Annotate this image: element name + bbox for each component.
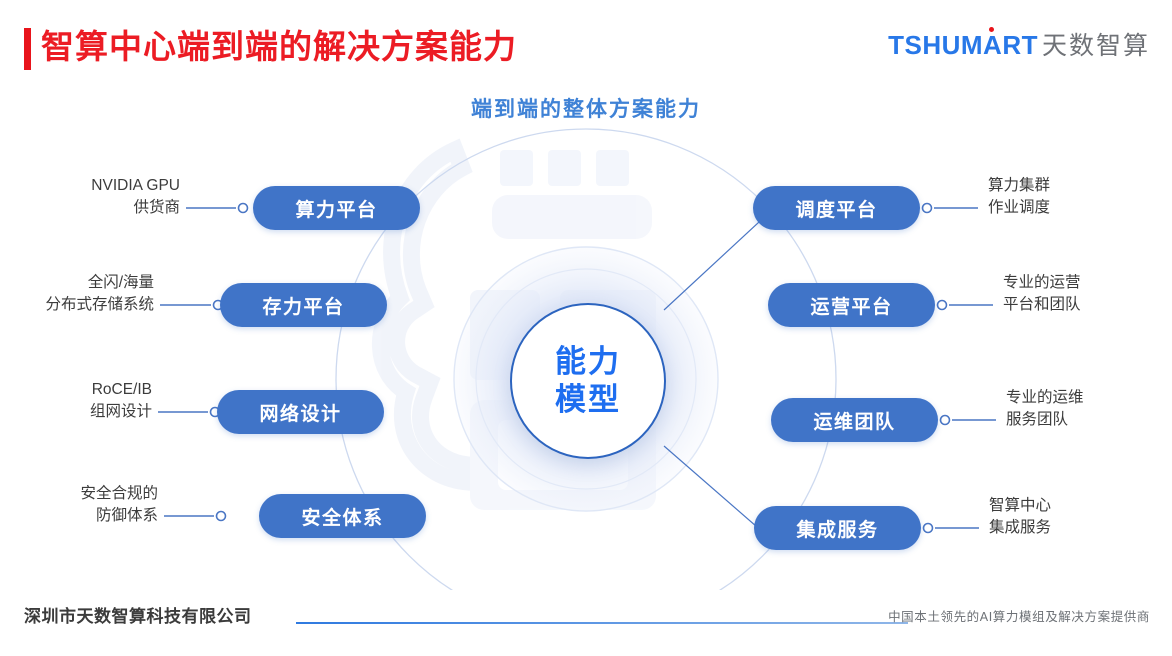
brand-logo-cn: 天数智算 bbox=[1042, 26, 1150, 62]
slide-root: 智算中心端到端的解决方案能力 TSHUMART 天数智算 端到端的整体方案能力 bbox=[0, 0, 1172, 656]
section-subtitle: 端到端的整体方案能力 bbox=[0, 93, 1172, 123]
brand-logo: TSHUMART 天数智算 bbox=[888, 26, 1150, 62]
brand-logo-latin: TSHUMART bbox=[888, 30, 1038, 61]
caption-scheduling-platform: 算力集群 作业调度 bbox=[988, 175, 1158, 219]
caption-ops-team: 专业的运维 服务团队 bbox=[1006, 387, 1172, 431]
title-accent-bar bbox=[24, 28, 31, 70]
caption-line2: 分布式存储系统 bbox=[0, 294, 154, 316]
capability-model-diagram: 能力 模型 算力平台 存力平台 网络设计 安全体系 NVIDIA GPU 供货商… bbox=[0, 120, 1172, 590]
caption-line1: 算力集群 bbox=[988, 175, 1158, 197]
spoke-to-scheduling bbox=[664, 210, 772, 310]
slide-header: 智算中心端到端的解决方案能力 TSHUMART 天数智算 bbox=[0, 0, 1172, 92]
brand-logo-dot-icon bbox=[989, 27, 994, 32]
right-connectors bbox=[923, 204, 997, 533]
pill-operations-platform[interactable]: 运营平台 bbox=[768, 283, 935, 327]
caption-storage-platform: 全闪/海量 分布式存储系统 bbox=[0, 272, 154, 316]
center-node-line1: 能力 bbox=[555, 343, 621, 381]
footer-slogan: 中国本土领先的AI算力模组及解决方案提供商 bbox=[888, 606, 1150, 625]
caption-line2: 防御体系 bbox=[0, 505, 158, 527]
footer-divider bbox=[296, 622, 908, 624]
caption-line1: 全闪/海量 bbox=[0, 272, 154, 294]
left-connectors bbox=[158, 204, 248, 521]
pill-ops-team[interactable]: 运维团队 bbox=[771, 398, 938, 442]
pill-scheduling-platform[interactable]: 调度平台 bbox=[753, 186, 920, 230]
caption-line1: NVIDIA GPU bbox=[20, 175, 180, 197]
center-node-line2: 模型 bbox=[555, 381, 621, 419]
caption-line1: 专业的运营 bbox=[1003, 272, 1172, 294]
caption-network-design: RoCE/IB 组网设计 bbox=[0, 379, 152, 423]
caption-operations-platform: 专业的运营 平台和团队 bbox=[1003, 272, 1172, 316]
center-node-capability-model[interactable]: 能力 模型 bbox=[510, 303, 666, 459]
caption-line2: 平台和团队 bbox=[1003, 294, 1172, 316]
caption-line1: RoCE/IB bbox=[0, 379, 152, 401]
pill-security-system[interactable]: 安全体系 bbox=[259, 494, 426, 538]
pill-integration-services[interactable]: 集成服务 bbox=[754, 506, 921, 550]
brand-logo-latin-text: TSHUMART bbox=[888, 30, 1038, 60]
caption-security-system: 安全合规的 防御体系 bbox=[0, 483, 158, 527]
caption-line1: 智算中心 bbox=[989, 495, 1159, 517]
caption-compute-platform: NVIDIA GPU 供货商 bbox=[20, 175, 180, 219]
pill-compute-platform[interactable]: 算力平台 bbox=[253, 186, 420, 230]
slide-footer: 深圳市天数智算科技有限公司 中国本土领先的AI算力模组及解决方案提供商 bbox=[0, 592, 1172, 656]
caption-line1: 安全合规的 bbox=[0, 483, 158, 505]
caption-line2: 组网设计 bbox=[0, 401, 152, 423]
footer-company-name: 深圳市天数智算科技有限公司 bbox=[24, 602, 252, 627]
caption-line2: 服务团队 bbox=[1006, 409, 1172, 431]
pill-storage-platform[interactable]: 存力平台 bbox=[220, 283, 387, 327]
pill-network-design[interactable]: 网络设计 bbox=[217, 390, 384, 434]
page-title: 智算中心端到端的解决方案能力 bbox=[41, 24, 517, 70]
caption-line2: 集成服务 bbox=[989, 517, 1159, 539]
caption-integration-services: 智算中心 集成服务 bbox=[989, 495, 1159, 539]
caption-line2: 作业调度 bbox=[988, 197, 1158, 219]
caption-line2: 供货商 bbox=[20, 197, 180, 219]
caption-line1: 专业的运维 bbox=[1006, 387, 1172, 409]
